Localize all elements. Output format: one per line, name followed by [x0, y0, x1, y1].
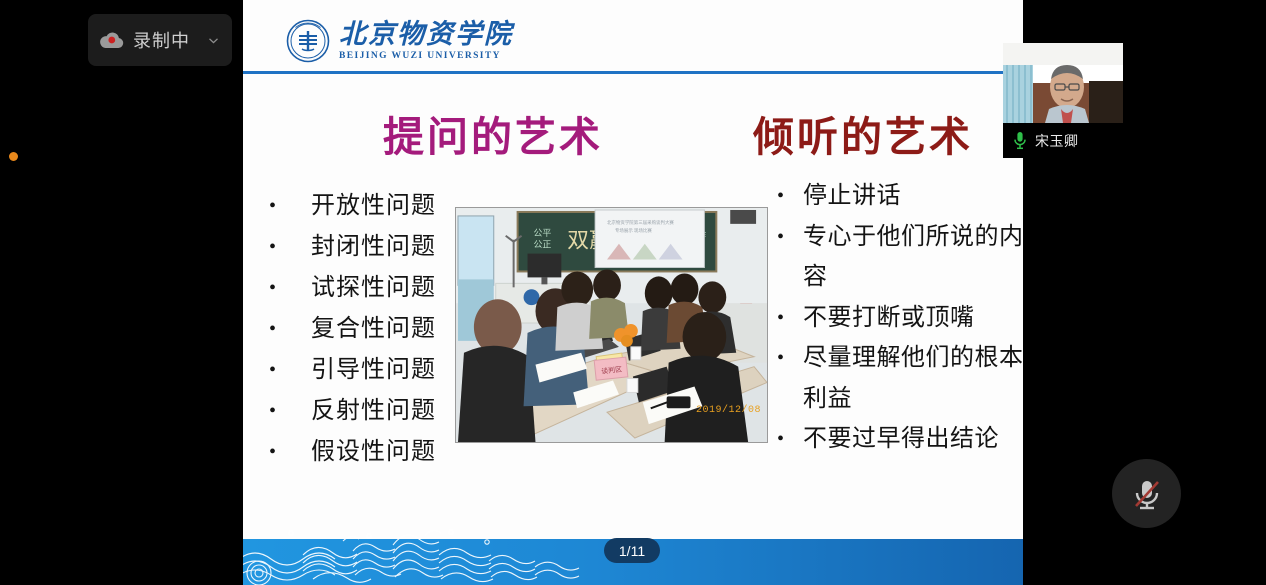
meeting-screen: 录制中 — [0, 0, 1266, 585]
bullet-icon: • — [773, 419, 803, 460]
list-item: •试探性问题 — [263, 268, 473, 309]
list-item: •不要打断或顶嘴 — [773, 298, 1023, 339]
bullet-icon: • — [773, 176, 803, 217]
photo-timestamp: 2019/12/08 — [696, 405, 761, 416]
status-dot — [9, 152, 18, 161]
header-divider — [243, 71, 1023, 74]
bullet-icon: • — [263, 227, 311, 268]
university-emblem-icon — [286, 19, 330, 63]
bullet-icon: • — [263, 432, 311, 473]
heading-left: 提问的艺术 — [283, 103, 703, 163]
chevron-down-icon[interactable] — [207, 34, 220, 47]
logo-name-cn: 北京物资学院 — [339, 21, 513, 48]
microphone-icon — [1013, 131, 1027, 150]
list-item-label: 尽量理解他们的根本利益 — [803, 338, 1023, 419]
university-logo: 北京物资学院 BEIJING WUZI UNIVERSITY — [286, 19, 513, 63]
microphone-muted-icon — [1129, 476, 1165, 512]
svg-text:专场展示 现场比赛: 专场展示 现场比赛 — [615, 227, 652, 234]
slide-photo: 公平 公正 双赢 合作 北京物资学院第三届采购谈判大赛 专场展示 现场比赛 — [455, 207, 768, 443]
participant-video — [1003, 43, 1123, 123]
bullet-icon: • — [773, 298, 803, 339]
list-item-label: 反射性问题 — [311, 391, 473, 432]
list-item-label: 假设性问题 — [311, 432, 473, 473]
list-item-label: 专心于他们所说的内容 — [803, 217, 1023, 298]
logo-name-en: BEIJING WUZI UNIVERSITY — [339, 52, 513, 62]
shared-slide[interactable]: 北京物资学院 BEIJING WUZI UNIVERSITY 提问的艺术 倾听的… — [243, 0, 1023, 585]
list-item-label: 不要打断或顶嘴 — [803, 298, 1023, 339]
bullet-icon: • — [263, 186, 311, 227]
list-item-label: 停止讲话 — [803, 176, 1023, 217]
bullet-icon: • — [263, 391, 311, 432]
bullet-icon: • — [773, 217, 803, 258]
svg-text:北京物资学院第三届采购谈判大赛: 北京物资学院第三届采购谈判大赛 — [607, 219, 674, 226]
list-item-label: 引导性问题 — [311, 350, 473, 391]
list-item: •假设性问题 — [263, 432, 473, 473]
list-item: •开放性问题 — [263, 186, 473, 227]
list-item-label: 封闭性问题 — [311, 227, 473, 268]
participant-name: 宋玉卿 — [1035, 131, 1079, 151]
participant-video-tile[interactable]: 宋玉卿 — [1003, 43, 1123, 158]
bullet-icon: • — [263, 268, 311, 309]
list-item: •封闭性问题 — [263, 227, 473, 268]
list-item-label: 试探性问题 — [311, 268, 473, 309]
page-indicator: 1/11 — [604, 538, 660, 563]
microphone-mute-button[interactable] — [1112, 459, 1181, 528]
list-item: •尽量理解他们的根本利益 — [773, 338, 1023, 419]
recording-label: 录制中 — [133, 27, 190, 53]
svg-text:公正: 公正 — [534, 240, 552, 250]
list-item: •反射性问题 — [263, 391, 473, 432]
list-item: •停止讲话 — [773, 176, 1023, 217]
list-item: •不要过早得出结论 — [773, 419, 1023, 460]
slide-header: 北京物资学院 BEIJING WUZI UNIVERSITY — [243, 0, 1023, 73]
bullet-icon: • — [263, 350, 311, 391]
cloud-record-icon — [100, 31, 124, 49]
recording-indicator[interactable]: 录制中 — [88, 14, 232, 66]
list-item-label: 开放性问题 — [311, 186, 473, 227]
svg-text:公平: 公平 — [534, 228, 552, 238]
list-item: •专心于他们所说的内容 — [773, 217, 1023, 298]
list-item: •引导性问题 — [263, 350, 473, 391]
bullet-list-right: •停止讲话 •专心于他们所说的内容 •不要打断或顶嘴 •尽量理解他们的根本利益 … — [773, 176, 1023, 460]
participant-name-bar: 宋玉卿 — [1003, 123, 1123, 158]
heading-right: 倾听的艺术 — [713, 103, 1013, 163]
bullet-icon: • — [263, 309, 311, 350]
bullet-list-left: •开放性问题 •封闭性问题 •试探性问题 •复合性问题 •引导性问题 •反射性问… — [263, 186, 473, 473]
list-item-label: 复合性问题 — [311, 309, 473, 350]
bullet-icon: • — [773, 338, 803, 379]
list-item-label: 不要过早得出结论 — [803, 419, 1023, 460]
list-item: •复合性问题 — [263, 309, 473, 350]
